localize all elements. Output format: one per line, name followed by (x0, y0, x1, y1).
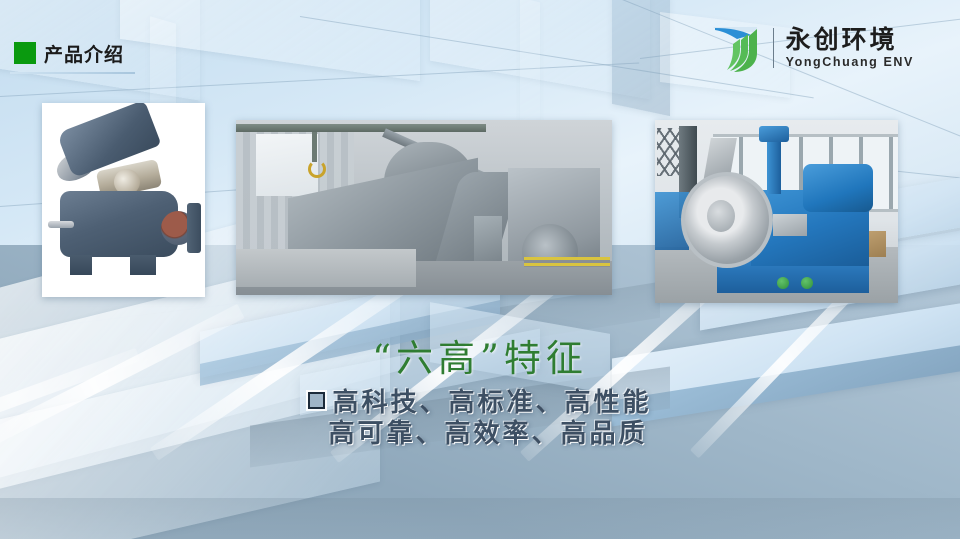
bullet-line-2-text: 高可靠、高效率、高品质 (328, 419, 647, 449)
square-bullet-icon (308, 392, 325, 409)
yongchuang-swoosh-icon (707, 23, 763, 73)
bullet-line-2: 高可靠、高效率、高品质 (0, 419, 960, 450)
logo-name-cn: 永创环境 (786, 27, 914, 53)
blue-blower-unit-photo (655, 120, 898, 303)
bullet-line-1-text: 高科技、高标准、高性能 (332, 388, 651, 418)
header-accent-square (14, 42, 36, 64)
logo-name-en: YongChuang ENV (786, 55, 914, 69)
split-case-pump-product-photo (42, 103, 205, 297)
presentation-slide: 产品介绍 永创环境 YongChuang ENV (0, 0, 960, 539)
feature-bullet-block: 高科技、高标准、高性能 高可靠、高效率、高品质 (0, 388, 960, 449)
header-underline (10, 72, 135, 74)
headline-text: “六高”特征 (0, 328, 960, 382)
workshop-gray-machinery-photo (236, 120, 612, 295)
logo-divider (773, 28, 774, 68)
bullet-line-1: 高科技、高标准、高性能 (0, 388, 960, 419)
logo-wordmark: 永创环境 YongChuang ENV (786, 27, 914, 68)
company-logo: 永创环境 YongChuang ENV (707, 22, 914, 74)
page-title: 产品介绍 (44, 40, 124, 67)
